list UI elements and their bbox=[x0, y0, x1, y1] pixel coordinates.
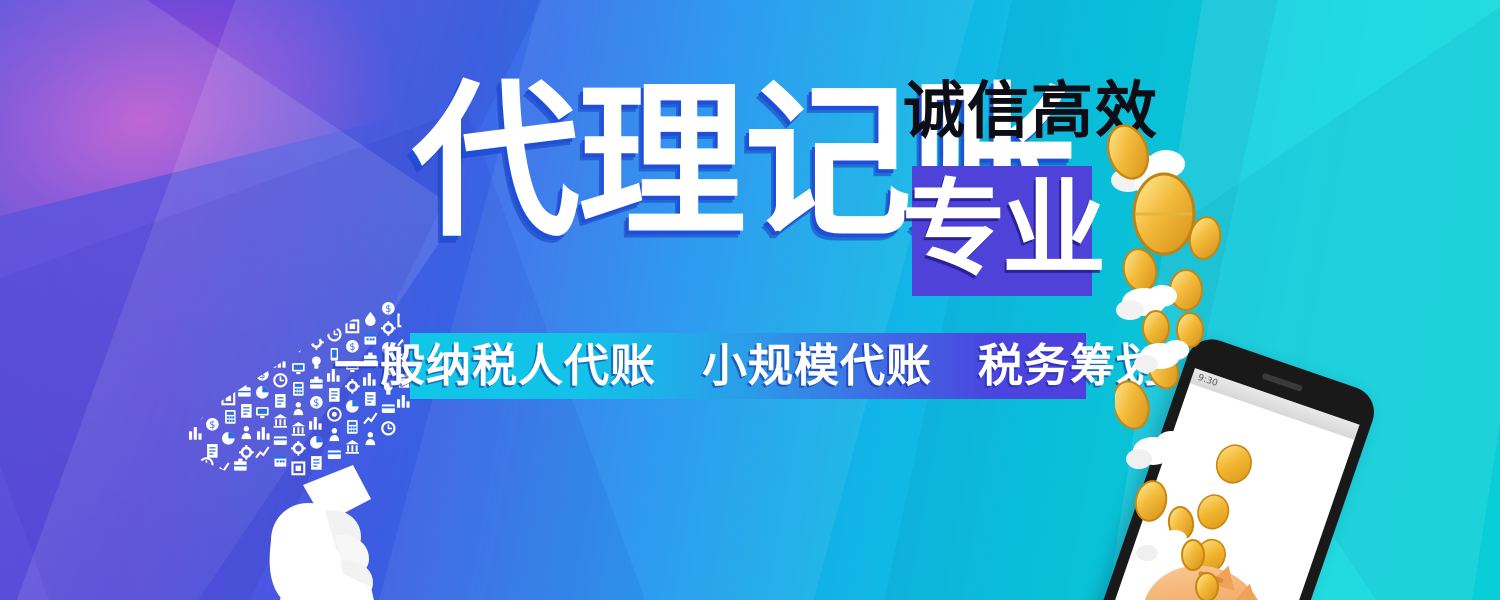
coin-icon bbox=[1170, 270, 1202, 310]
promo-banner: $ bbox=[0, 0, 1500, 600]
cloud-icon bbox=[1134, 340, 1189, 373]
fist-icon bbox=[270, 465, 375, 600]
professional-badge: 专业 bbox=[912, 166, 1092, 296]
cloud-icon bbox=[1116, 285, 1177, 320]
coin-icon bbox=[1143, 311, 1169, 345]
services-subtitle-bar: 一般纳税人代账 小规模代账 税务筹划 bbox=[410, 333, 1086, 399]
services-subtitle-text: 一般纳税人代账 小规模代账 税务筹划 bbox=[334, 343, 1162, 388]
coin-icon bbox=[1132, 478, 1170, 523]
coin-icon bbox=[1196, 573, 1218, 600]
cloud-icon bbox=[1136, 530, 1187, 561]
upper-coin-cloud-cluster bbox=[1100, 120, 1340, 420]
professional-badge-label: 专业 bbox=[902, 177, 1102, 281]
coin-icon bbox=[1182, 540, 1204, 570]
cloud-icon bbox=[1126, 431, 1186, 469]
